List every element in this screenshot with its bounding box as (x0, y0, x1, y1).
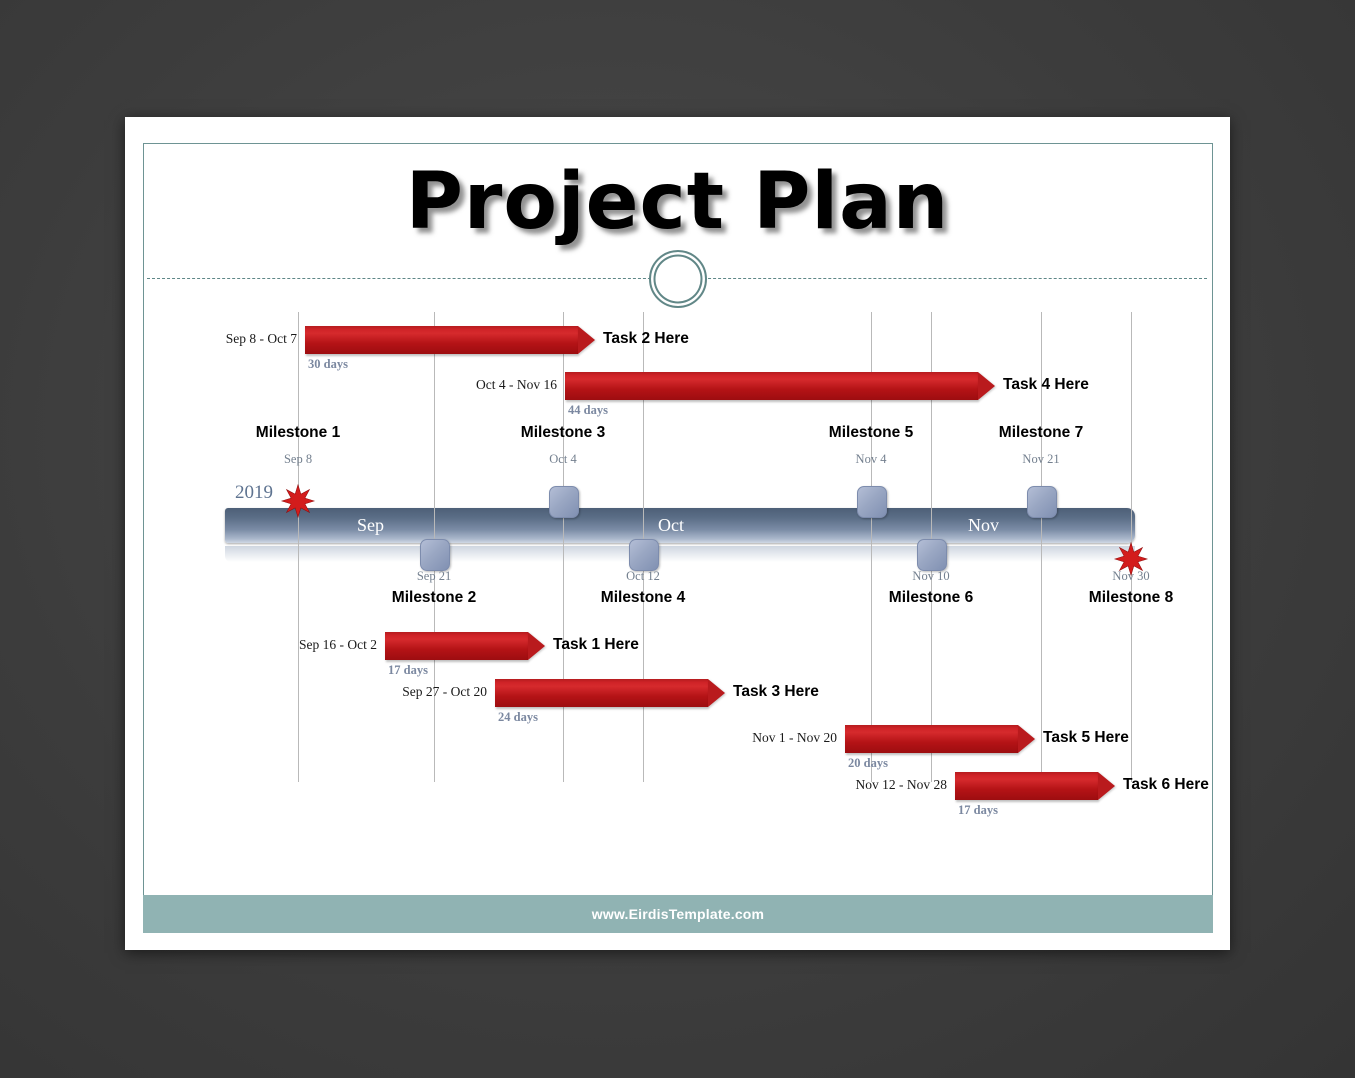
timeline-month-label-nov: Nov (968, 515, 999, 536)
task-duration-label: 44 days (568, 403, 608, 418)
task-date-range-label: Oct 4 - Nov 16 (476, 377, 557, 393)
task-date-range-label: Sep 16 - Oct 2 (299, 637, 377, 653)
task-bar-body (385, 632, 528, 660)
task-bar-body (495, 679, 708, 707)
timeline-year-label: 2019 (235, 482, 273, 504)
milestone-star-icon (281, 484, 315, 518)
milestone-name-label[interactable]: Milestone 6 (889, 589, 973, 607)
footer-website-label: www.EirdisTemplate.com (592, 906, 764, 922)
task-name-label[interactable]: Task 3 Here (733, 683, 819, 701)
milestone-square-icon (857, 486, 887, 518)
milestone-date-label: Nov 30 (1112, 569, 1149, 584)
task-duration-label: 17 days (388, 663, 428, 678)
task-bar-body (565, 372, 978, 400)
milestone-date-label: Nov 4 (856, 452, 887, 467)
task-bar[interactable] (955, 772, 1115, 800)
task-bar-arrow-head (528, 632, 545, 660)
task-duration-label: 30 days (308, 357, 348, 372)
milestone-square-icon (1027, 486, 1057, 518)
task-duration-label: 20 days (848, 756, 888, 771)
task-bar-body (955, 772, 1098, 800)
task-date-range-label: Nov 1 - Nov 20 (752, 730, 837, 746)
milestone-name-label[interactable]: Milestone 2 (392, 589, 476, 607)
task-bar[interactable] (845, 725, 1035, 753)
timeline-month-label-oct: Oct (658, 515, 684, 536)
milestone-date-label: Nov 10 (912, 569, 949, 584)
milestone-gridline (563, 312, 564, 782)
task-bar-arrow-head (578, 326, 595, 354)
task-bar-arrow-head (1098, 772, 1115, 800)
task-bar-body (845, 725, 1018, 753)
milestone-square-icon (629, 539, 659, 571)
task-duration-label: 24 days (498, 710, 538, 725)
milestone-square-icon (420, 539, 450, 571)
task-bar[interactable] (495, 679, 725, 707)
milestone-name-label[interactable]: Milestone 4 (601, 589, 685, 607)
task-duration-label: 17 days (958, 803, 998, 818)
gantt-chart: 2019SepOctNovSep 8Milestone 1Sep 21Miles… (125, 117, 1230, 950)
task-name-label[interactable]: Task 2 Here (603, 330, 689, 348)
milestone-name-label[interactable]: Milestone 8 (1089, 589, 1173, 607)
milestone-date-label: Sep 21 (417, 569, 451, 584)
timeline-spine-reflection (225, 546, 1135, 562)
timeline-month-label-sep: Sep (357, 515, 384, 536)
milestone-name-label[interactable]: Milestone 3 (521, 424, 605, 442)
task-bar-body (305, 326, 578, 354)
milestone-date-label: Oct 4 (549, 452, 576, 467)
milestone-name-label[interactable]: Milestone 5 (829, 424, 913, 442)
milestone-date-label: Oct 12 (626, 569, 660, 584)
footer-banner: www.EirdisTemplate.com (143, 895, 1213, 933)
milestone-square-icon (917, 539, 947, 571)
milestone-date-label: Nov 21 (1022, 452, 1059, 467)
task-bar-arrow-head (1018, 725, 1035, 753)
task-date-range-label: Sep 27 - Oct 20 (402, 684, 487, 700)
milestone-gridline (298, 312, 299, 782)
task-date-range-label: Nov 12 - Nov 28 (856, 777, 948, 793)
task-name-label[interactable]: Task 1 Here (553, 636, 639, 654)
milestone-square-icon (549, 486, 579, 518)
task-bar[interactable] (385, 632, 545, 660)
screenshot-root: Project Plan 2019SepOctNovSep 8Milestone… (0, 0, 1355, 1078)
task-name-label[interactable]: Task 5 Here (1043, 729, 1129, 747)
task-name-label[interactable]: Task 6 Here (1123, 776, 1209, 794)
task-bar-arrow-head (708, 679, 725, 707)
task-bar[interactable] (305, 326, 595, 354)
milestone-name-label[interactable]: Milestone 7 (999, 424, 1083, 442)
task-name-label[interactable]: Task 4 Here (1003, 376, 1089, 394)
task-bar-arrow-head (978, 372, 995, 400)
task-date-range-label: Sep 8 - Oct 7 (226, 331, 297, 347)
task-bar[interactable] (565, 372, 995, 400)
milestone-name-label[interactable]: Milestone 1 (256, 424, 340, 442)
slide-canvas: Project Plan 2019SepOctNovSep 8Milestone… (125, 117, 1230, 950)
milestone-date-label: Sep 8 (284, 452, 312, 467)
